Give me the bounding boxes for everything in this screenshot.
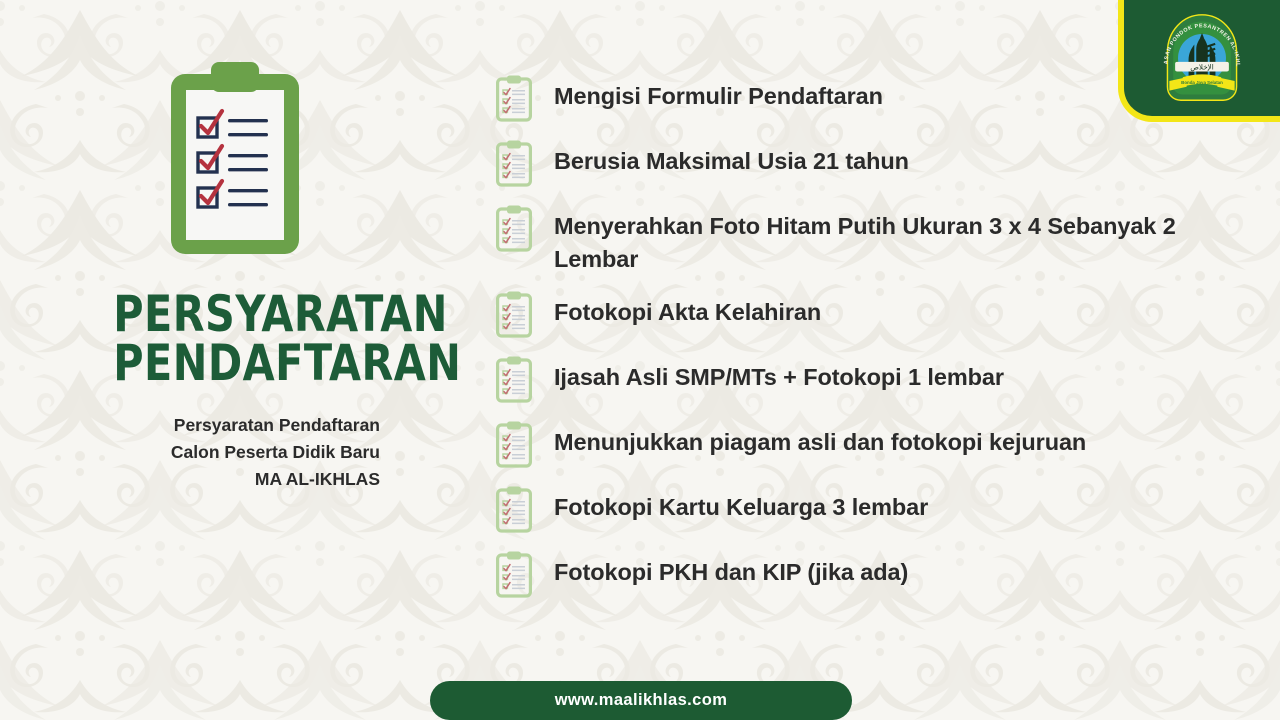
clipboard-check-icon [496,485,532,533]
left-column: PERSYARATAN PENDAFTARAN Persyaratan Pend… [0,60,470,493]
list-item-label: Mengisi Formulir Pendaftaran [554,74,883,113]
clipboard-check-icon [496,420,532,468]
list-item-label: Ijasah Asli SMP/MTs + Fotokopi 1 lembar [554,355,1004,394]
list-item-label: Fotokopi Kartu Keluarga 3 lembar [554,485,928,524]
requirements-list: Mengisi Formulir Pendaftaran Berusia Mak… [496,74,1256,615]
page-subtitle-line-1: Persyaratan Pendaftaran [90,412,380,439]
svg-text:Bonda Jaya Selatan: Bonda Jaya Selatan [1181,80,1223,85]
list-item: Berusia Maksimal Usia 21 tahun [496,139,1256,191]
list-item: Fotokopi PKH dan KIP (jika ada) [496,550,1256,602]
al-ikhlas-school-emblem: الإخلاص Bonda Jaya Selatan YAYASAN PONDO… [1154,10,1250,106]
list-item: Fotokopi Kartu Keluarga 3 lembar [496,485,1256,537]
logo-badge: الإخلاص Bonda Jaya Selatan YAYASAN PONDO… [1118,0,1280,122]
footer-url-label: www.maalikhlas.com [555,691,728,710]
page-title: PERSYARATAN PENDAFTARAN [90,290,380,388]
page-title-line-1: PERSYARATAN [113,290,380,339]
clipboard-check-icon [496,550,532,598]
list-item: Menunjukkan piagam asli dan fotokopi kej… [496,420,1256,472]
list-item-label: Fotokopi Akta Kelahiran [554,290,821,329]
poster-root: الإخلاص Bonda Jaya Selatan YAYASAN PONDO… [0,0,1280,720]
clipboard-check-icon [496,355,532,403]
list-item-label: Menyerahkan Foto Hitam Putih Ukuran 3 x … [554,204,1256,277]
footer-url-pill[interactable]: www.maalikhlas.com [430,681,852,720]
clipboard-check-icon [496,290,532,338]
svg-text:الإخلاص: الإخلاص [1190,63,1214,72]
list-item: Ijasah Asli SMP/MTs + Fotokopi 1 lembar [496,355,1256,407]
page-title-line-2: PENDAFTARAN [113,339,380,388]
list-item: Menyerahkan Foto Hitam Putih Ukuran 3 x … [496,204,1256,277]
clipboard-check-icon [496,74,532,122]
clipboard-check-icon [496,204,532,252]
list-item-label: Fotokopi PKH dan KIP (jika ada) [554,550,908,589]
clipboard-check-icon [496,139,532,187]
clipboard-checklist-illustration [169,60,301,256]
list-item: Fotokopi Akta Kelahiran [496,290,1256,342]
page-subtitle-line-3: MA AL-IKHLAS [90,466,380,493]
list-item-label: Menunjukkan piagam asli dan fotokopi kej… [554,420,1086,459]
list-item-label: Berusia Maksimal Usia 21 tahun [554,139,909,178]
page-subtitle: Persyaratan Pendaftaran Calon Peserta Di… [90,412,380,493]
page-subtitle-line-2: Calon Peserta Didik Baru [90,439,380,466]
